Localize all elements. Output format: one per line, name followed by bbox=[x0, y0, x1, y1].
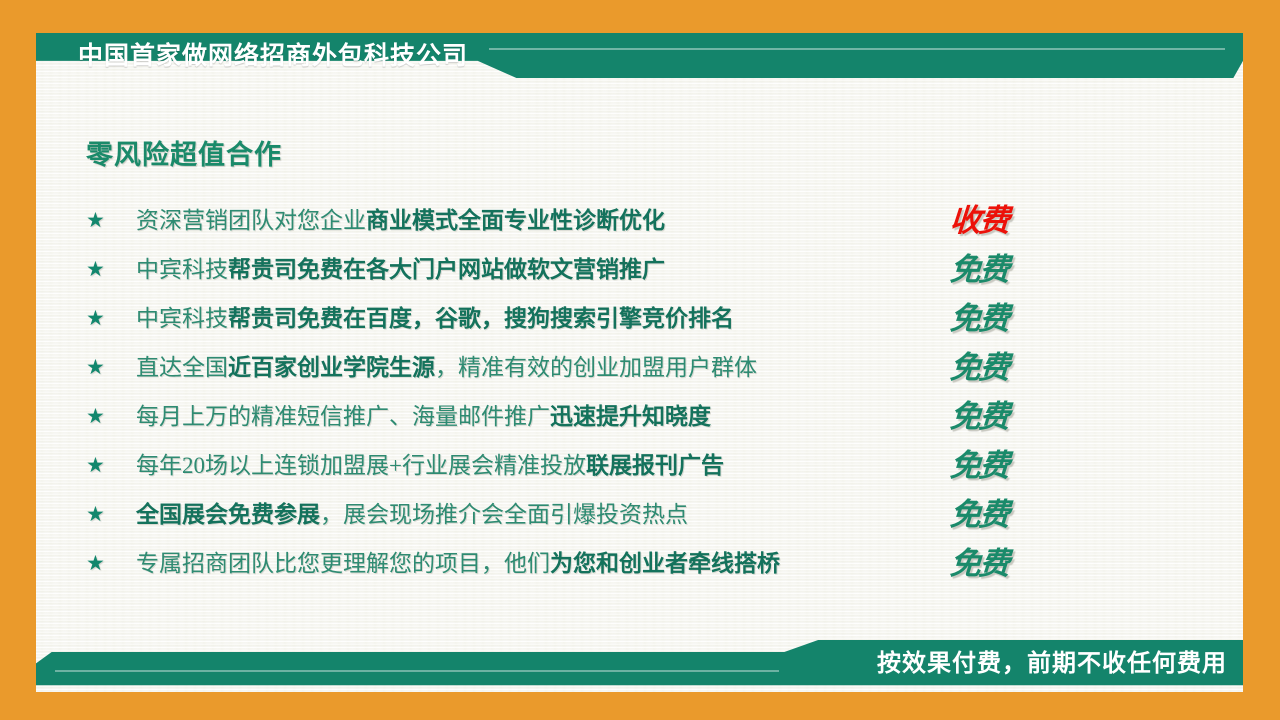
benefit-text-normal: 每月上万的精准短信推广、海量邮件推广 bbox=[136, 404, 550, 429]
benefit-row: ★每年20场以上连锁加盟展+行业展会精准投放联展报刊广告 bbox=[86, 441, 1086, 490]
fee-badge: 免费 bbox=[950, 294, 1070, 343]
fee-badge-label: 免费 bbox=[949, 449, 1009, 483]
benefit-row-text: 资深营销团队对您企业商业模式全面专业性诊断优化 bbox=[136, 206, 665, 236]
benefit-text-normal: 资深营销团队对您企业 bbox=[136, 208, 366, 233]
star-icon: ★ bbox=[86, 308, 114, 329]
fee-badge-label: 免费 bbox=[949, 253, 1009, 287]
benefit-text-emphasis: 全国展会免费参展 bbox=[136, 502, 320, 527]
footer-band: 按效果付费，前期不收任何费用 bbox=[36, 640, 1243, 692]
star-icon: ★ bbox=[86, 406, 114, 427]
footer-band-accent-line bbox=[55, 670, 779, 672]
frame-left-orange bbox=[0, 0, 36, 720]
benefit-text-normal: 中宾科技 bbox=[136, 306, 228, 331]
frame-right-orange bbox=[1243, 0, 1280, 720]
benefit-text-normal-tail: ，展会现场推介会全面引爆投资热点 bbox=[320, 502, 688, 527]
benefit-text-emphasis: 近百家创业学院生源 bbox=[228, 355, 435, 380]
benefit-text-emphasis: 帮贵司免费在百度，谷歌，搜狗搜索引擎竞价排名 bbox=[228, 306, 734, 331]
benefit-text-normal: 中宾科技 bbox=[136, 257, 228, 282]
benefit-row: ★每月上万的精准短信推广、海量邮件推广迅速提升知晓度 bbox=[86, 392, 1086, 441]
slide-root: 中国首家做网络招商外包科技公司 零风险超值合作 ★资深营销团队对您企业商业模式全… bbox=[0, 0, 1280, 720]
fee-badge-label: 免费 bbox=[949, 400, 1009, 434]
frame-bottom-orange bbox=[0, 692, 1280, 720]
fee-badge: 免费 bbox=[950, 490, 1070, 539]
benefit-row: ★资深营销团队对您企业商业模式全面专业性诊断优化 bbox=[86, 196, 1086, 245]
fee-badge: 免费 bbox=[950, 245, 1070, 294]
star-icon: ★ bbox=[86, 504, 114, 525]
benefit-text-emphasis: 商业模式全面专业性诊断优化 bbox=[366, 208, 665, 233]
frame-top-orange bbox=[0, 0, 1280, 33]
benefit-row-text: 直达全国近百家创业学院生源，精准有效的创业加盟用户群体 bbox=[136, 353, 757, 383]
section-title: 零风险超值合作 bbox=[86, 133, 282, 172]
benefit-row: ★全国展会免费参展，展会现场推介会全面引爆投资热点 bbox=[86, 490, 1086, 539]
star-icon: ★ bbox=[86, 553, 114, 574]
fee-badge-label: 免费 bbox=[949, 351, 1009, 385]
benefit-row: ★专属招商团队比您更理解您的项目，他们为您和创业者牵线搭桥 bbox=[86, 539, 1086, 588]
benefit-text-emphasis: 迅速提升知晓度 bbox=[550, 404, 711, 429]
fee-badge: 免费 bbox=[950, 539, 1070, 588]
footer-text: 按效果付费，前期不收任何费用 bbox=[877, 644, 1227, 684]
fee-badge: 收费 bbox=[950, 196, 1070, 245]
header-title: 中国首家做网络招商外包科技公司 bbox=[78, 38, 468, 74]
fee-badge: 免费 bbox=[950, 441, 1070, 490]
benefit-row-text: 每月上万的精准短信推广、海量邮件推广迅速提升知晓度 bbox=[136, 402, 711, 432]
star-icon: ★ bbox=[86, 210, 114, 231]
benefit-row: ★中宾科技帮贵司免费在各大门户网站做软文营销推广 bbox=[86, 245, 1086, 294]
fee-badge-label: 免费 bbox=[949, 547, 1009, 581]
star-icon: ★ bbox=[86, 357, 114, 378]
star-icon: ★ bbox=[86, 259, 114, 280]
benefit-row: ★直达全国近百家创业学院生源，精准有效的创业加盟用户群体 bbox=[86, 343, 1086, 392]
fee-column: 收费免费免费免费免费免费免费免费 bbox=[950, 196, 1070, 588]
benefit-text-normal: 直达全国 bbox=[136, 355, 228, 380]
star-icon: ★ bbox=[86, 455, 114, 476]
benefit-text-emphasis: 为您和创业者牵线搭桥 bbox=[550, 551, 780, 576]
benefit-row-text: 全国展会免费参展，展会现场推介会全面引爆投资热点 bbox=[136, 500, 688, 530]
benefit-text-normal-tail: ，精准有效的创业加盟用户群体 bbox=[435, 355, 757, 380]
benefit-text-normal: 专属招商团队比您更理解您的项目，他们 bbox=[136, 551, 550, 576]
benefit-row-text: 中宾科技帮贵司免费在百度，谷歌，搜狗搜索引擎竞价排名 bbox=[136, 304, 734, 334]
fee-badge-label: 免费 bbox=[949, 498, 1009, 532]
fee-badge-label: 免费 bbox=[949, 302, 1009, 336]
fee-badge-label: 收费 bbox=[949, 204, 1009, 238]
header-band-accent-line bbox=[489, 48, 1225, 50]
benefit-text-normal: 每年20场以上连锁加盟展+行业展会精准投放 bbox=[136, 453, 586, 478]
fee-badge: 免费 bbox=[950, 392, 1070, 441]
benefit-row-text: 每年20场以上连锁加盟展+行业展会精准投放联展报刊广告 bbox=[136, 451, 724, 481]
fee-badge: 免费 bbox=[950, 343, 1070, 392]
header-band: 中国首家做网络招商外包科技公司 bbox=[36, 33, 1243, 78]
benefit-list: ★资深营销团队对您企业商业模式全面专业性诊断优化★中宾科技帮贵司免费在各大门户网… bbox=[86, 196, 1086, 588]
benefit-row-text: 中宾科技帮贵司免费在各大门户网站做软文营销推广 bbox=[136, 255, 665, 285]
benefit-row: ★中宾科技帮贵司免费在百度，谷歌，搜狗搜索引擎竞价排名 bbox=[86, 294, 1086, 343]
benefit-row-text: 专属招商团队比您更理解您的项目，他们为您和创业者牵线搭桥 bbox=[136, 549, 780, 579]
benefit-text-emphasis: 帮贵司免费在各大门户网站做软文营销推广 bbox=[228, 257, 665, 282]
benefit-text-emphasis: 联展报刊广告 bbox=[586, 453, 724, 478]
